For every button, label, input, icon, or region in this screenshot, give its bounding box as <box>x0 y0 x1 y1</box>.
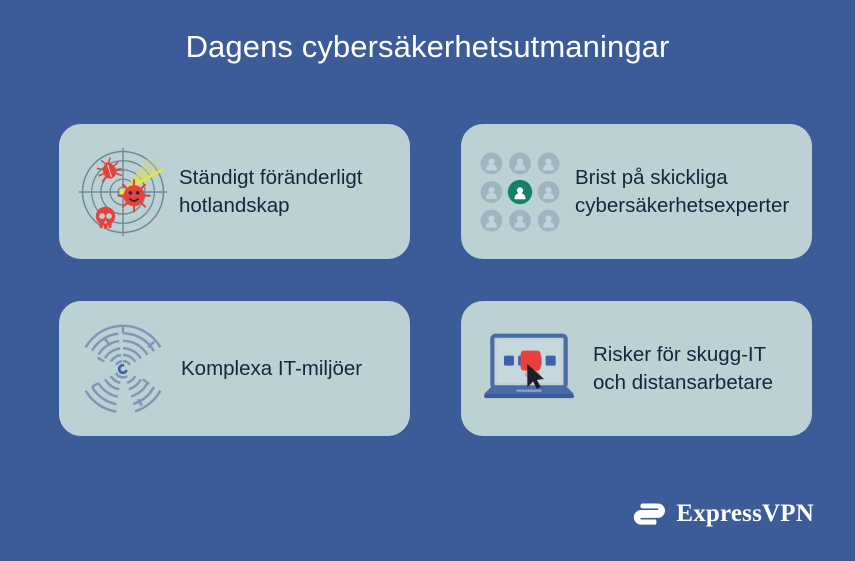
card-skills-shortage: Brist på skickliga cybersäkerhetsexperte… <box>461 124 812 259</box>
card-label: Brist på skickliga cybersäkerhetsexperte… <box>563 164 798 218</box>
maze-icon <box>75 321 171 417</box>
page-title: Dagens cybersäkerhetsutmaningar <box>0 28 855 65</box>
brand-logo: ExpressVPN <box>632 496 814 531</box>
people-grid-icon <box>477 144 563 240</box>
card-complex-it: Komplexa IT-miljöer <box>59 301 410 436</box>
brand-name: ExpressVPN <box>676 501 814 526</box>
laptop-cursor-icon <box>477 321 581 417</box>
card-shadow-it: Risker för skugg-IT och distansarbetare <box>461 301 812 436</box>
card-label: Komplexa IT-miljöer <box>171 355 396 382</box>
card-label: Risker för skugg-IT och distansarbetare <box>581 341 798 395</box>
challenge-card-grid: Ständigt föränderligt hotlandskap <box>59 124 812 436</box>
radar-icon <box>75 144 171 240</box>
card-threat-landscape: Ständigt föränderligt hotlandskap <box>59 124 410 259</box>
expressvpn-logo-icon <box>632 496 667 531</box>
card-label: Ständigt föränderligt hotlandskap <box>171 164 396 218</box>
infographic-poster: Dagens cybersäkerhetsutmaningar <box>0 0 855 561</box>
